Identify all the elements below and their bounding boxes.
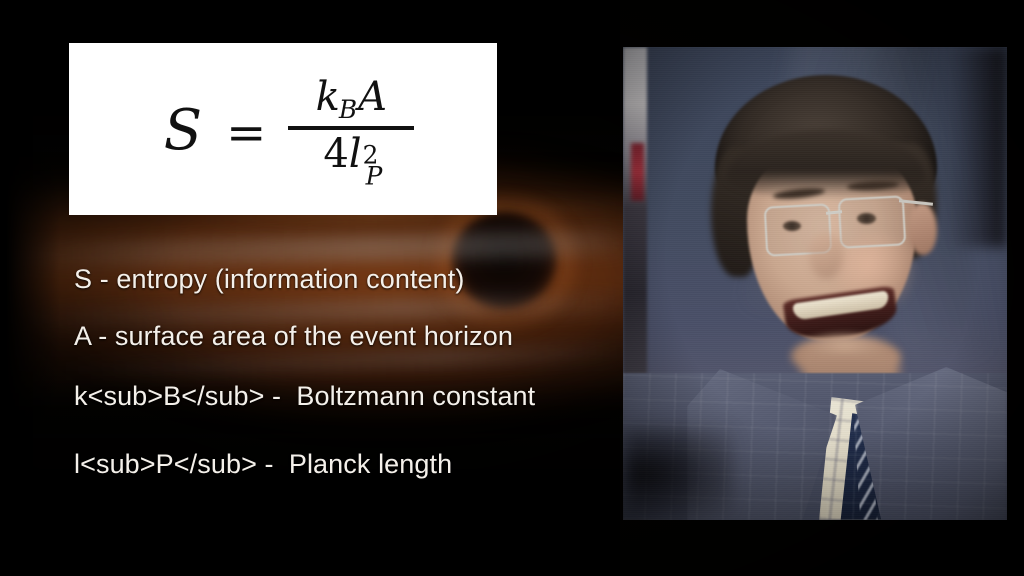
portrait-photo: [623, 47, 1007, 520]
formula-denominator: 4l2P: [317, 133, 385, 190]
formula-fraction: kBA 4l2P: [288, 76, 414, 190]
legend-line-boltzmann: k<sub>B</sub> - Boltzmann constant: [74, 381, 619, 412]
variable-legend: S - entropy (information content) A - su…: [74, 264, 619, 480]
legend-line-entropy: S - entropy (information content): [74, 264, 619, 295]
jacket-shoulder-shadow: [623, 427, 733, 520]
slide-canvas: S = kBA 4l2P S - entropy (information co…: [0, 0, 1024, 576]
formula-lhs: S: [164, 103, 202, 159]
eyeglasses-lens-right: [838, 195, 907, 248]
formula-equals-sign: =: [226, 109, 266, 157]
denominator-supsub: 2P: [363, 146, 380, 187]
photo-right-shadow: [947, 47, 1007, 247]
formula-numerator: kBA: [310, 76, 393, 123]
denominator-subscript: P: [366, 166, 383, 186]
subject-nose: [809, 233, 843, 279]
denominator-symbol: l: [349, 131, 362, 177]
legend-line-area: A - surface area of the event horizon: [74, 321, 619, 352]
photo-left-strip-red-accent: [631, 143, 644, 201]
subject-ear: [909, 203, 937, 255]
entropy-formula: S = kBA 4l2P: [164, 74, 415, 188]
background-left-fade: [0, 0, 60, 576]
formula-card: S = kBA 4l2P: [69, 43, 497, 215]
fraction-bar: [288, 126, 414, 130]
numerator-symbol: k: [316, 74, 340, 120]
denominator-coefficient: 4: [323, 131, 348, 177]
legend-line-planck-length: l<sub>P</sub> - Planck length: [74, 449, 619, 480]
numerator-subscript: B: [339, 95, 357, 124]
numerator-factor: A: [358, 74, 387, 120]
